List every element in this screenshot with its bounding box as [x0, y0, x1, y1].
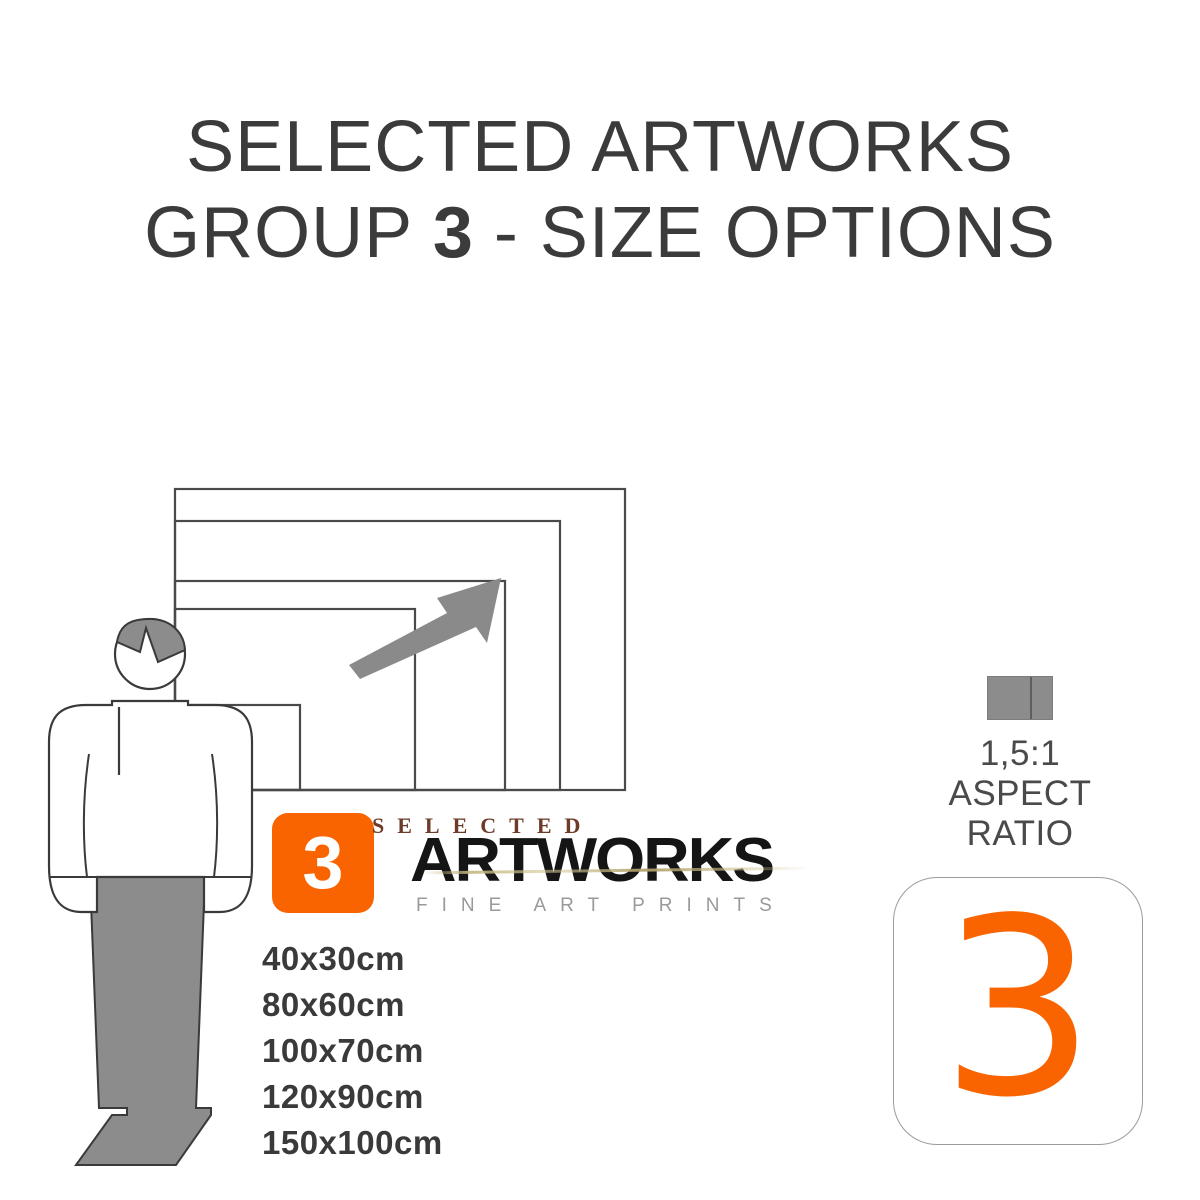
- size-option-item: 80x60cm: [262, 982, 443, 1028]
- title-line-2-prefix: GROUP: [144, 193, 433, 273]
- logo-group-badge: 3: [272, 813, 374, 913]
- size-option-item: 40x30cm: [262, 936, 443, 982]
- person-torso: [49, 701, 252, 912]
- standing-person-figure: [49, 619, 252, 1165]
- title-group-number: 3: [433, 193, 473, 273]
- person-hair: [117, 619, 185, 662]
- person-trousers: [76, 877, 211, 1165]
- title-line-2-suffix: - SIZE OPTIONS: [473, 193, 1056, 273]
- aspect-ratio-swatch-icon: [987, 676, 1053, 720]
- size-option-item: 100x70cm: [262, 1028, 443, 1074]
- aspect-ratio-label-line1: ASPECT: [890, 774, 1150, 814]
- frame-150x100: [175, 489, 625, 790]
- growth-arrow-icon: [349, 578, 501, 679]
- person-right-arm-seam: [212, 754, 217, 877]
- person-left-arm-seam: [84, 754, 89, 877]
- logo-word-artworks: ARTWORKS: [410, 825, 773, 896]
- group-number-tile: 3: [893, 877, 1143, 1145]
- size-option-item: 120x90cm: [262, 1074, 443, 1120]
- aspect-ratio-divider: [1030, 677, 1032, 719]
- group-number-value: 3: [894, 878, 1142, 1140]
- size-option-item: 150x100cm: [262, 1120, 443, 1166]
- aspect-ratio-value: 1,5:1: [890, 734, 1150, 774]
- size-options-list: 40x30cm 80x60cm 100x70cm 120x90cm 150x10…: [262, 936, 443, 1166]
- aspect-ratio-text: 1,5:1 ASPECT RATIO: [890, 734, 1150, 854]
- poster-canvas: SELECTED ARTWORKS GROUP 3 - SIZE OPTIONS: [0, 0, 1200, 1200]
- frame-100x70: [175, 581, 505, 790]
- aspect-ratio-block: 1,5:1 ASPECT RATIO: [890, 676, 1150, 854]
- person-head: [115, 619, 185, 689]
- logo-wordmark: SELECTED ARTWORKS FINE ART PRINTS: [372, 813, 832, 925]
- frame-80x60: [175, 609, 415, 790]
- aspect-ratio-label-line2: RATIO: [890, 814, 1150, 854]
- frame-40x30: [175, 705, 300, 790]
- page-title: SELECTED ARTWORKS GROUP 3 - SIZE OPTIONS: [0, 104, 1200, 276]
- frame-120x90: [175, 521, 560, 790]
- brand-logo: 3 SELECTED ARTWORKS FINE ART PRINTS: [272, 813, 832, 925]
- title-line-2: GROUP 3 - SIZE OPTIONS: [0, 190, 1200, 276]
- logo-tagline: FINE ART PRINTS: [416, 895, 786, 917]
- title-line-1: SELECTED ARTWORKS: [0, 104, 1200, 190]
